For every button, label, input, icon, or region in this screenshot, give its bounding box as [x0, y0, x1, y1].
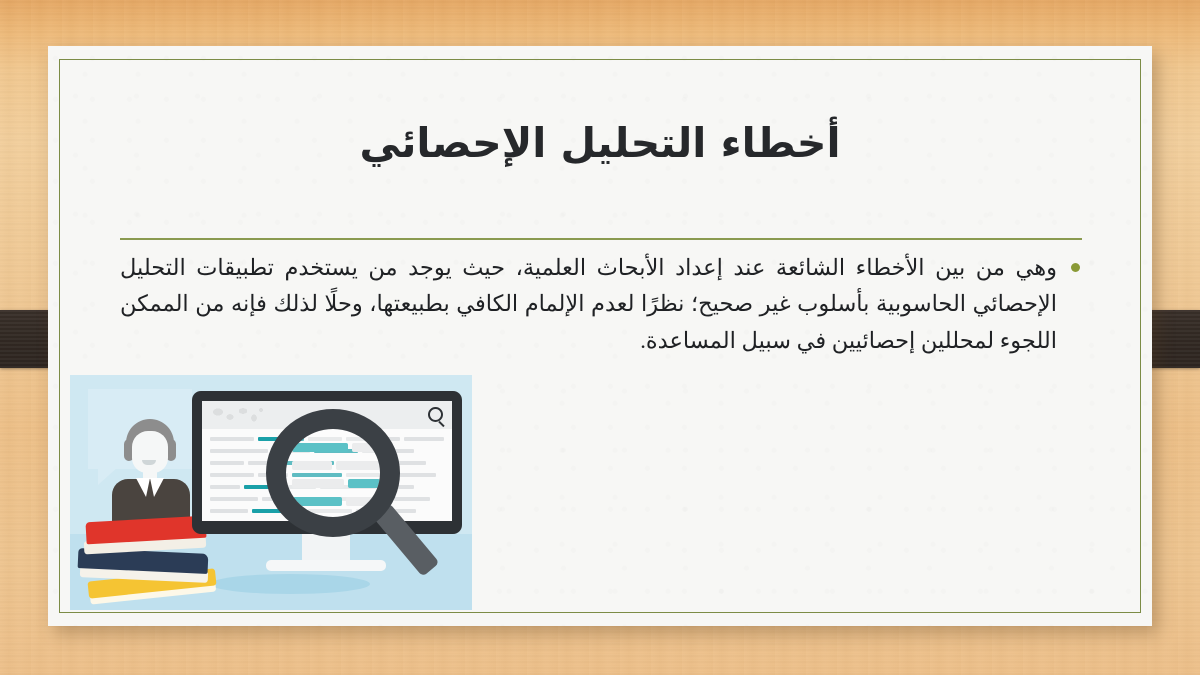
person-collar-right	[150, 478, 164, 497]
illustration-image	[70, 375, 472, 610]
bullet-marker-icon	[1071, 263, 1080, 272]
world-map-icon	[210, 405, 266, 425]
search-icon	[428, 407, 443, 422]
body-paragraph: وهي من بين الأخطاء الشائعة عند إعداد الأ…	[120, 250, 1057, 359]
monitor-base	[266, 560, 386, 571]
title-divider	[120, 238, 1082, 240]
person-face	[132, 431, 168, 473]
list-item: وهي من بين الأخطاء الشائعة عند إعداد الأ…	[120, 250, 1080, 359]
body-content: وهي من بين الأخطاء الشائعة عند إعداد الأ…	[120, 250, 1080, 359]
monitor-stand	[302, 534, 350, 562]
monitor-shadow	[210, 574, 370, 594]
person-collar-left	[136, 478, 150, 497]
slide-canvas: أخطاء التحليل الإحصائي وهي من بين الأخطا…	[0, 0, 1200, 675]
page-title: أخطاء التحليل الإحصائي	[60, 118, 1140, 169]
magnifier-icon	[266, 409, 400, 537]
